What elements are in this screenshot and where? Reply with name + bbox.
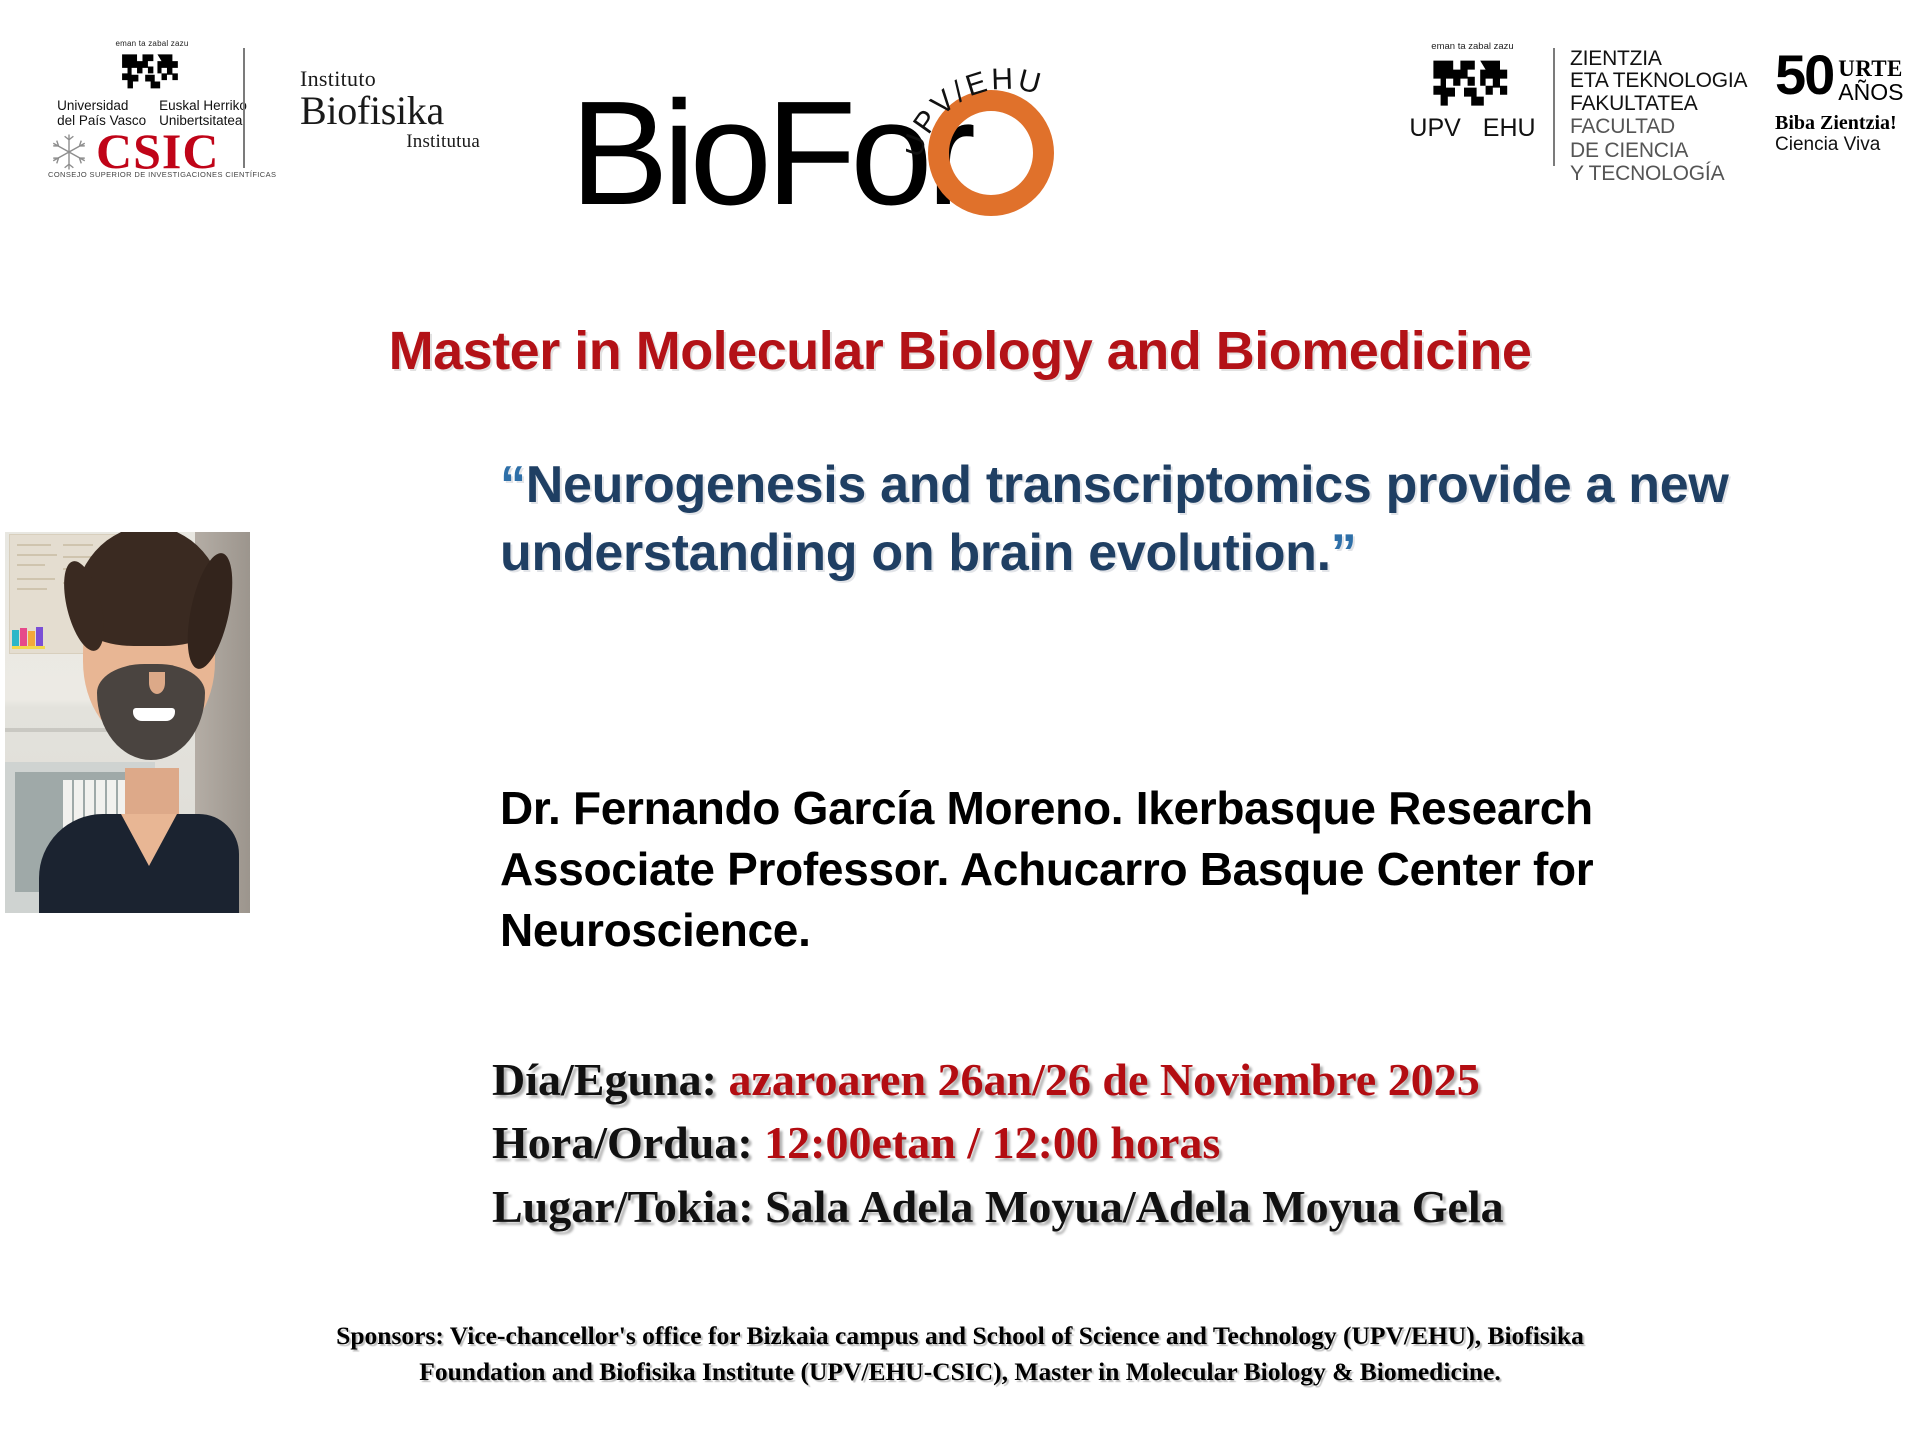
biofisika-line3: Institutua — [300, 132, 480, 151]
event-details: Día/Eguna: azaroaren 26an/26 de Noviembr… — [492, 1048, 1912, 1238]
biofisika-logo: Instituto Biofisika Institutua — [300, 68, 480, 151]
detail-label-place: Lugar/Tokia: Sala Adela Moyua/Adela Moyu… — [492, 1181, 1504, 1232]
speaker-photo — [5, 532, 250, 913]
bioforo-o-ring: UPV/EHU — [928, 90, 1090, 252]
header-logo-bar: eman ta zabal zazu Universidad del País … — [0, 0, 1920, 290]
csic-wordmark: CSIC — [96, 128, 219, 176]
bioforo-curved-text: UPV/EHU — [906, 62, 1121, 277]
detail-value-time: 12:00etan / 12:00 horas — [764, 1117, 1220, 1168]
detail-row-date: Día/Eguna: azaroaren 26an/26 de Noviembr… — [492, 1048, 1912, 1111]
sponsors-line1: Sponsors: Vice-chancellor's office for B… — [0, 1318, 1920, 1354]
faculty-eu-l1: ZIENTZIA — [1570, 48, 1770, 70]
poster-root: eman ta zabal zazu Universidad del País … — [0, 0, 1920, 1440]
faculty-name-block: ZIENTZIA ETA TEKNOLOGIA FAKULTATEA FACUL… — [1570, 48, 1770, 186]
header-divider-left — [243, 48, 245, 168]
bioforo-logo: BioFor UPV/EHU — [570, 52, 1170, 252]
faculty-eu-l2: ETA TEKNOLOGIA — [1570, 70, 1770, 92]
upv-ehu-motto-right: eman ta zabal zazu — [1400, 42, 1545, 52]
anniversary-urte: URTE — [1838, 57, 1903, 80]
speaker-line1: Dr. Fernando García Moreno. Ikerbasque — [500, 782, 1376, 834]
talk-title-quote: “Neurogenesis and transcriptomics provid… — [500, 452, 1830, 587]
biofisika-line1: Instituto — [300, 68, 480, 90]
anniversary-anos: AÑOS — [1838, 80, 1903, 104]
biofisika-line2: Biofisika — [300, 90, 480, 132]
svg-text:UPV/EHU: UPV/EHU — [906, 63, 1047, 162]
speaker-info: Dr. Fernando García Moreno. Ikerbasque R… — [500, 778, 1700, 962]
ehu-crest-icon — [118, 50, 186, 94]
upv-abbrev: UPV — [1409, 116, 1460, 141]
upv-ehu-logo-right: eman ta zabal zazu UPV EHU — [1400, 42, 1545, 141]
csic-subtitle: CONSEJO SUPERIOR DE INVESTIGACIONES CIEN… — [48, 170, 260, 179]
photo-nose — [149, 672, 165, 694]
quote-open-mark: “ — [500, 456, 526, 514]
upv-ehu-motto: eman ta zabal zazu — [52, 40, 252, 48]
ehu-abbrev: EHU — [1483, 116, 1536, 141]
quote-close-mark: ” — [1331, 524, 1357, 582]
sponsors-line2: Foundation and Biofisika Institute (UPV/… — [0, 1354, 1920, 1390]
detail-label-time: Hora/Ordua: — [492, 1117, 764, 1168]
upv-name-eu-l1: Euskal Herriko — [159, 98, 247, 113]
upv-name-es-l1: Universidad — [57, 98, 128, 113]
ehu-crest-icon-right — [1428, 55, 1518, 113]
faculty-eu-l3: FAKULTATEA — [1570, 93, 1770, 115]
detail-row-place: Lugar/Tokia: Sala Adela Moyua/Adela Moyu… — [492, 1175, 1912, 1238]
anniversary-50-logo: 50 URTE AÑOS Biba Zientzia! Ciencia Viva — [1775, 52, 1915, 156]
anniversary-ciencia: Ciencia Viva — [1775, 135, 1915, 156]
detail-value-date: azaroaren 26an/26 de Noviembre 2025 — [728, 1054, 1479, 1105]
faculty-es-l3: Y TECNOLOGÍA — [1570, 163, 1770, 185]
csic-logo: CSIC — [48, 128, 258, 176]
detail-row-time: Hora/Ordua: 12:00etan / 12:00 horas — [492, 1111, 1912, 1174]
upv-ehu-abbrev-row: UPV EHU — [1400, 116, 1545, 141]
page-title: Master in Molecular Biology and Biomedic… — [0, 320, 1920, 382]
upv-ehu-logo-left: eman ta zabal zazu Universidad del País … — [52, 40, 252, 128]
photo-smile — [133, 708, 175, 721]
csic-snowflake-icon — [48, 131, 90, 173]
quote-line3: evolution. — [1088, 524, 1331, 582]
anniversary-number: 50 — [1775, 52, 1833, 98]
detail-label-date: Día/Eguna: — [492, 1054, 728, 1105]
anniversary-biba: Biba Zientzia! — [1775, 112, 1915, 135]
photo-poster-figures-icon — [11, 624, 51, 650]
sponsors-footer: Sponsors: Vice-chancellor's office for B… — [0, 1318, 1920, 1390]
header-divider-right — [1553, 48, 1555, 166]
faculty-es-l2: DE CIENCIA — [1570, 140, 1770, 162]
quote-line1: Neurogenesis and transcriptomics — [526, 456, 1372, 514]
faculty-es-l1: FACULTAD — [1570, 116, 1770, 138]
